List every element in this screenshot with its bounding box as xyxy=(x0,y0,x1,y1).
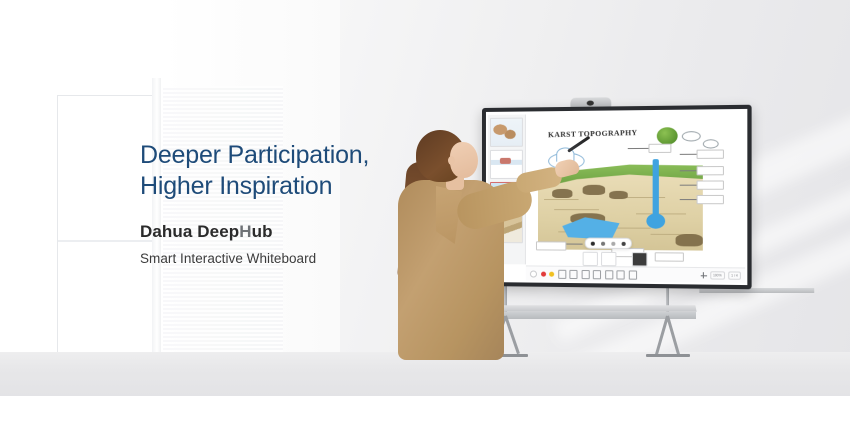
select-tool-icon[interactable] xyxy=(593,270,601,279)
eraser-tool-icon[interactable] xyxy=(569,269,577,278)
tool-card[interactable] xyxy=(601,252,616,266)
cave-chamber xyxy=(583,185,606,195)
pen-tool-icon[interactable] xyxy=(558,269,566,278)
stand-leg xyxy=(666,316,679,355)
more-tool[interactable] xyxy=(622,241,626,245)
brand-lockup: Dahua DeepHub xyxy=(140,222,440,242)
brand-d: D xyxy=(197,222,209,241)
product-subtitle: Smart Interactive Whiteboard xyxy=(140,251,440,266)
eraser-tool[interactable] xyxy=(601,241,605,245)
brand-eep: eep xyxy=(210,222,240,241)
page-indicator[interactable]: 1 / 4 xyxy=(728,271,741,279)
sinkhole-shaft xyxy=(653,159,659,220)
whiteboard-toolbar[interactable]: 100% 1 / 4 xyxy=(526,265,745,283)
shape-tool-icon[interactable] xyxy=(581,269,589,278)
select-tool[interactable] xyxy=(611,241,615,245)
color-swatch-red[interactable] xyxy=(541,271,546,276)
dahua-deephub-banner: KARST TOPOGRAPHY xyxy=(0,0,850,425)
brand-dahua: Dahua xyxy=(140,222,197,241)
brand-ub: ub xyxy=(252,222,273,241)
zoom-in-icon[interactable] xyxy=(700,272,706,278)
sinkhole-pool xyxy=(646,213,665,228)
bottom-whitespace xyxy=(0,396,850,425)
stand-foot xyxy=(646,354,690,357)
image-tool-icon[interactable] xyxy=(616,270,624,279)
color-swatch-yellow[interactable] xyxy=(549,271,554,276)
tool-card[interactable] xyxy=(583,252,598,266)
cloud-icon xyxy=(703,139,719,148)
marketing-copy: Deeper Participation, Higher Inspiration… xyxy=(140,140,440,266)
ear xyxy=(448,156,455,165)
color-swatch-white[interactable] xyxy=(530,270,537,277)
tool-card[interactable] xyxy=(632,252,648,266)
stand-leg xyxy=(655,316,668,355)
cloud-icon xyxy=(682,131,701,141)
floating-palette[interactable] xyxy=(585,238,632,249)
headline-line-2: Higher Inspiration xyxy=(140,171,440,202)
rock-outcrop xyxy=(676,234,703,246)
more-tool-icon[interactable] xyxy=(628,270,636,279)
cave-chamber xyxy=(609,191,628,199)
headline-line-1: Deeper Participation, xyxy=(140,140,440,171)
diagram-title: KARST TOPOGRAPHY xyxy=(548,128,638,139)
diagram-canvas[interactable]: KARST TOPOGRAPHY xyxy=(526,112,745,266)
pen-tool[interactable] xyxy=(591,241,595,245)
text-tool-icon[interactable] xyxy=(605,270,613,279)
zoom-level[interactable]: 100% xyxy=(710,271,725,279)
brand-h: H xyxy=(239,222,251,241)
zoom-control[interactable]: 100% 1 / 4 xyxy=(700,271,741,280)
cave-chamber xyxy=(552,189,572,198)
